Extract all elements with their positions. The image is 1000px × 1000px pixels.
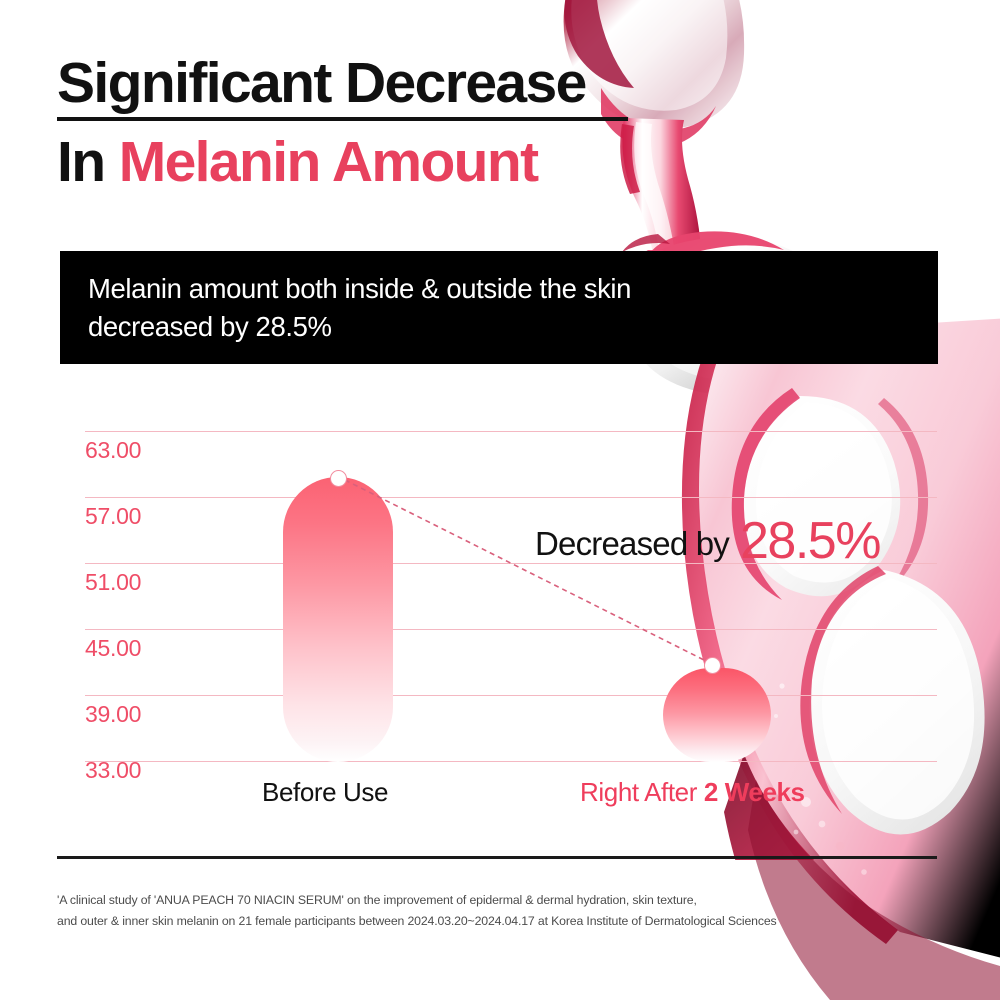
bar-before-use [283,477,393,762]
decrease-callout: Decreased by 28.5% [535,508,880,568]
ytick-label-3: 45.00 [85,635,141,662]
ytick-label-5: 33.00 [85,757,141,784]
headline-line-2: In Melanin Amount [57,132,697,192]
headline-line-1: Significant Decrease [57,52,697,114]
data-point-marker-after [704,657,721,674]
gridline-63 [85,431,937,432]
decrease-callout-label: Decreased by [535,525,729,563]
ytick-label-0: 63.00 [85,437,141,464]
headline-line-2-prefix: In [57,130,119,194]
gridline-45 [85,629,937,630]
xaxis-label-after-light: Right After [580,777,704,807]
footer-divider [57,856,937,859]
ytick-label-4: 39.00 [85,701,141,728]
decrease-callout-value: 28.5% [740,511,880,571]
gridline-51 [85,563,937,564]
data-point-marker-before [330,470,347,487]
footnote-text: 'A clinical study of 'ANUA PEACH 70 NIAC… [57,890,947,932]
headline-underline [57,117,628,121]
summary-banner: Melanin amount both inside & outside the… [60,251,938,364]
bar-right-after-2-weeks [663,668,771,762]
gridline-39 [85,695,937,696]
headline-line-2-highlight: Melanin Amount [119,130,538,194]
headline-block: Significant Decrease In Melanin Amount [57,52,697,192]
infographic-root: Significant Decrease In Melanin Amount M… [0,0,1000,1000]
xaxis-label-before: Before Use [262,777,388,808]
ytick-label-2: 51.00 [85,569,141,596]
gridline-57 [85,497,937,498]
xaxis-label-after: Right After 2 Weeks [580,777,805,808]
ytick-label-1: 57.00 [85,503,141,530]
xaxis-label-after-strong: 2 Weeks [704,777,805,807]
gridline-33 [85,761,937,762]
summary-banner-text: Melanin amount both inside & outside the… [60,270,631,346]
